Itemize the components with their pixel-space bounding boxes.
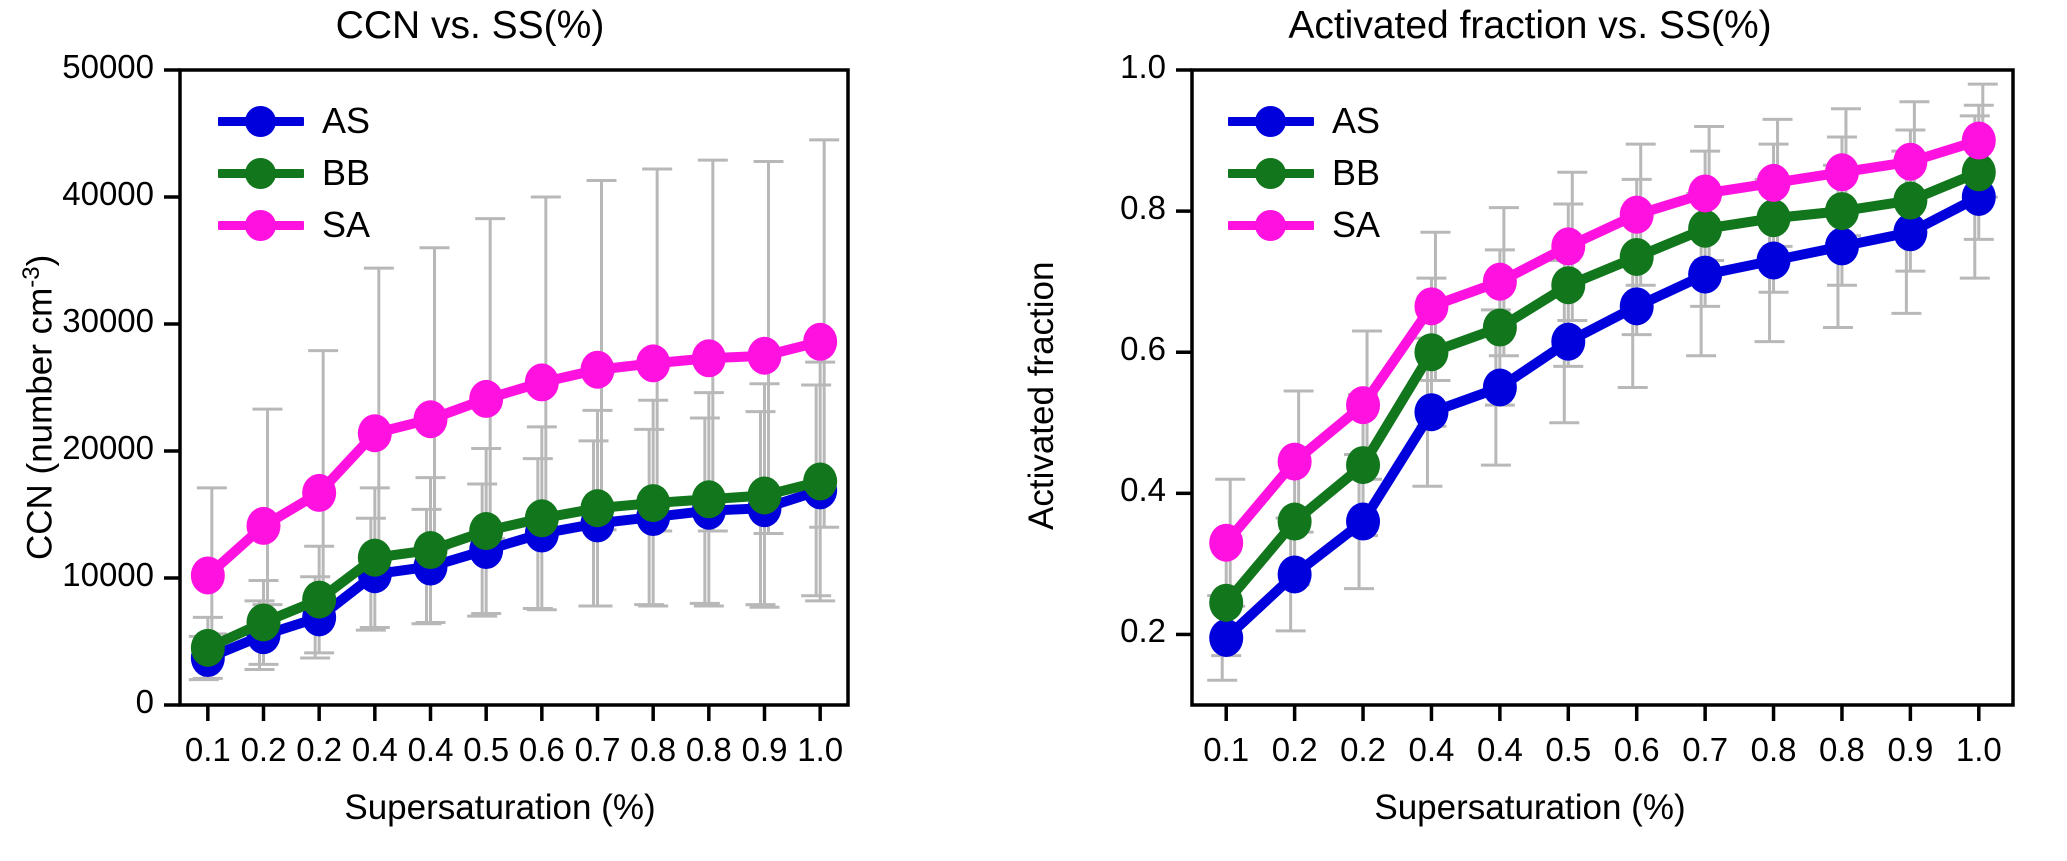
legend-marker-icon [1255,106,1286,137]
legend-marker-icon [1255,210,1286,241]
af-y-axis-title: Activated fraction [1022,262,1062,530]
series-as [191,471,837,677]
legend-swatch-as [1228,101,1314,141]
af-y-tick-label: 0.6 [1120,330,1166,368]
panel-ccn: CCN vs. SS(%) CCN (number cm-3) Supersat… [0,0,1000,861]
legend-marker-icon [1255,158,1286,189]
legend-swatch-sa [1228,205,1314,245]
series-sa [191,323,837,595]
legend-swatch-bb [218,153,304,193]
ccn-y-axis-title-sup: -3 [18,266,45,287]
panel-activated-fraction: Activated fraction vs. SS(%) Activated f… [1000,0,2067,861]
af-x-axis-title: Supersaturation (%) [1150,788,1910,828]
ccn-y-tick-label: 40000 [62,175,154,213]
ccn-y-axis-title-main: CCN (number cm [21,288,60,560]
legend-marker-icon [245,106,276,137]
af-y-tick-label: 0.8 [1120,189,1166,227]
ccn-y-tick-label: 10000 [62,556,154,594]
af-y-tick-label: 0.2 [1120,612,1166,650]
legend-label: SA [1332,207,1380,243]
legend-swatch-as [218,101,304,141]
figure-root: CCN vs. SS(%) CCN (number cm-3) Supersat… [0,0,2067,861]
af-x-tick-label: 1.0 [1939,731,2019,769]
legend-item-sa[interactable]: SA [1228,199,1380,251]
af-y-tick-label: 0.4 [1120,471,1166,509]
ccn-y-tick-label: 20000 [62,429,154,467]
legend-label: AS [322,103,370,139]
ccn-y-tick-label: 30000 [62,302,154,340]
af-y-tick-label: 1.0 [1120,48,1166,86]
ccn-x-axis-title: Supersaturation (%) [150,788,850,828]
legend-label: AS [1332,103,1380,139]
ccn-y-tick-label: 50000 [62,48,154,86]
ccn-y-axis-title-close: ) [21,255,60,267]
legend-label: BB [1332,155,1380,191]
series-bb [191,462,837,666]
legend-item-bb[interactable]: BB [218,147,370,199]
legend-item-sa[interactable]: SA [218,199,370,251]
ccn-y-tick-label: 0 [136,683,154,721]
legend-marker-icon [245,158,276,189]
ccn-x-tick-label: 1.0 [780,731,860,769]
legend-label: BB [322,155,370,191]
legend-item-as[interactable]: AS [1228,95,1380,147]
af-legend: ASBBSA [1228,95,1380,251]
legend-item-as[interactable]: AS [218,95,370,147]
ccn-y-axis-title: CCN (number cm-3) [18,255,61,560]
legend-label: SA [322,207,370,243]
legend-marker-icon [245,210,276,241]
legend-swatch-sa [218,205,304,245]
legend-swatch-bb [1228,153,1314,193]
ccn-legend: ASBBSA [218,95,370,251]
legend-item-bb[interactable]: BB [1228,147,1380,199]
